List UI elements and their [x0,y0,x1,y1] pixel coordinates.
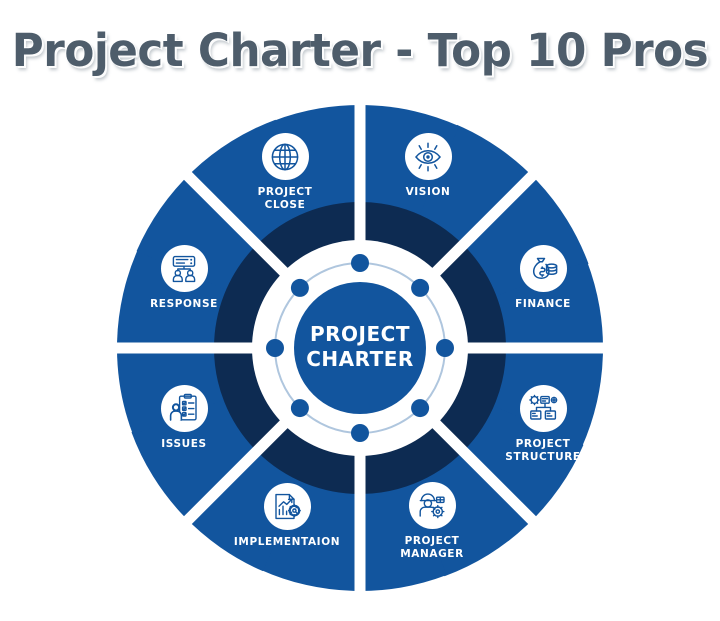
hub-dot [436,339,454,357]
hub-dot [411,399,429,417]
hub-core-circle[interactable] [294,282,426,414]
hub-dot [411,279,429,297]
page-title: Project Charter - Top 10 Pros [12,24,708,77]
hub-dot [266,339,284,357]
hub-dot [351,424,369,442]
hub-dot [291,399,309,417]
title-area: Project Charter - Top 10 Pros [0,0,720,100]
hub-dot [351,254,369,272]
infographic-canvas: Project Charter - Top 10 Pros [0,0,720,621]
segmented-wheel-diagram [113,102,607,596]
hub-dot [291,279,309,297]
